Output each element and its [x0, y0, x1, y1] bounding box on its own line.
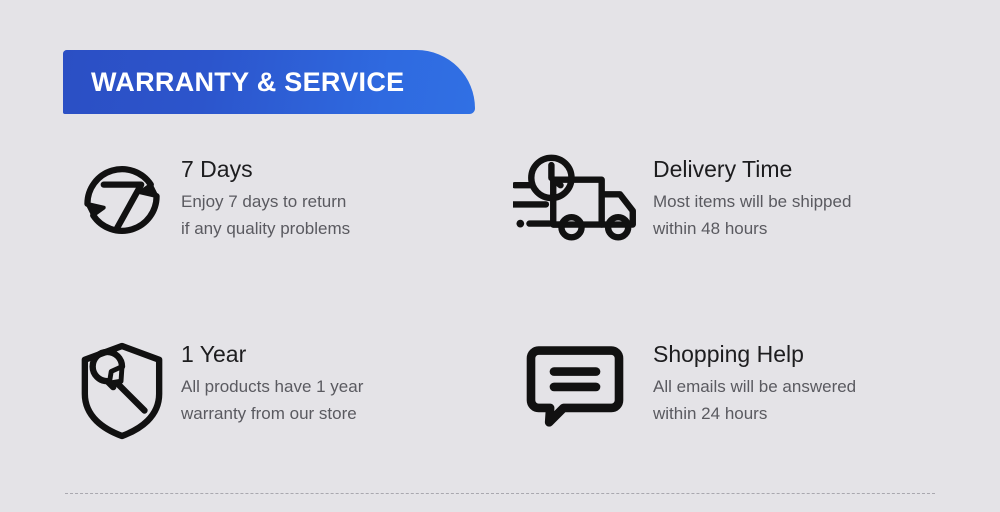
bottom-dashed-divider — [65, 493, 935, 494]
feature-line: within 48 hours — [653, 216, 851, 242]
feature-line: All products have 1 year — [181, 374, 363, 400]
chat-bubble-icon-svg — [525, 341, 625, 429]
feature-item-shopping-help: Shopping Help All emails will be answere… — [513, 335, 943, 441]
feature-title: Delivery Time — [653, 156, 851, 182]
feature-text-delivery-time: Delivery Time Most items will be shipped… — [653, 150, 851, 242]
feature-line: within 24 hours — [653, 401, 856, 427]
warranty-service-banner: WARRANTY & SERVICE — [63, 50, 475, 114]
feature-text-1-year: 1 Year All products have 1 year warranty… — [181, 335, 363, 427]
feature-text-7-days: 7 Days Enjoy 7 days to return if any qua… — [181, 150, 350, 242]
feature-line: if any quality problems — [181, 216, 350, 242]
feature-text-shopping-help: Shopping Help All emails will be answere… — [653, 335, 856, 427]
feature-title: Shopping Help — [653, 341, 856, 367]
feature-item-delivery-time: Delivery Time Most items will be shipped… — [513, 150, 943, 335]
feature-item-1-year: 1 Year All products have 1 year warranty… — [63, 335, 493, 441]
feature-line: Most items will be shipped — [653, 189, 851, 215]
feature-grid: 7 Days Enjoy 7 days to return if any qua… — [63, 150, 943, 441]
delivery-truck-clock-icon — [513, 150, 653, 244]
feature-line: All emails will be answered — [653, 374, 856, 400]
delivery-truck-clock-icon-svg — [513, 152, 641, 244]
feature-line: warranty from our store — [181, 401, 363, 427]
feature-line: Enjoy 7 days to return — [181, 189, 350, 215]
feature-title: 1 Year — [181, 341, 363, 367]
shield-wrench-icon-svg — [78, 341, 166, 441]
return-arrows-7-icon-svg — [74, 152, 170, 248]
banner-title: WARRANTY & SERVICE — [63, 67, 404, 98]
shield-wrench-icon — [63, 335, 181, 441]
chat-bubble-icon — [513, 335, 653, 429]
return-arrows-7-icon — [63, 150, 181, 248]
feature-item-7-days: 7 Days Enjoy 7 days to return if any qua… — [63, 150, 493, 335]
feature-title: 7 Days — [181, 156, 350, 182]
